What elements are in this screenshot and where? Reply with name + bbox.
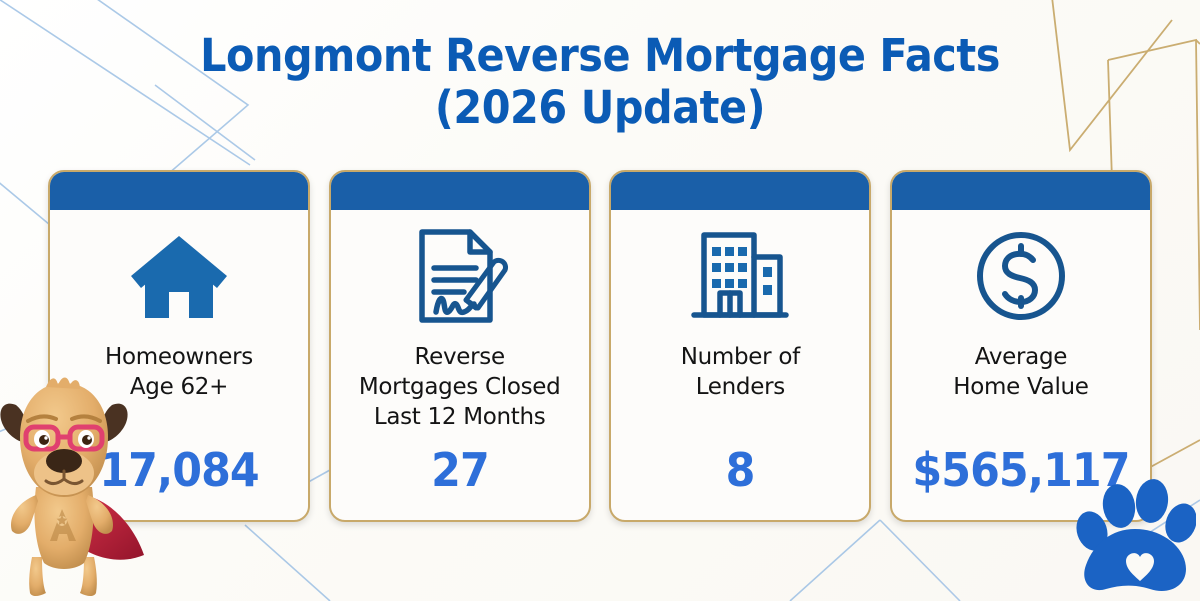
label-line: Last 12 Months bbox=[374, 404, 546, 430]
card-label-lenders: Number of Lenders bbox=[611, 336, 869, 446]
label-line: Number of bbox=[681, 344, 800, 370]
label-line: Mortgages Closed bbox=[359, 374, 561, 400]
paw-print-heart-logo bbox=[1072, 475, 1196, 595]
superhero-dog-mascot bbox=[0, 369, 152, 601]
signed-document-icon bbox=[408, 216, 512, 336]
card-header-bar bbox=[611, 172, 869, 210]
label-line: Home Value bbox=[953, 374, 1088, 400]
office-building-icon bbox=[686, 216, 794, 336]
label-line: Average bbox=[975, 344, 1067, 370]
house-icon bbox=[125, 216, 233, 336]
card-header-bar bbox=[50, 172, 308, 210]
card-label-mortgages-closed: Reverse Mortgages Closed Last 12 Months bbox=[331, 336, 589, 446]
card-value-lenders: 8 bbox=[620, 446, 860, 520]
card-label-home-value: Average Home Value bbox=[892, 336, 1150, 446]
dollar-circle-icon bbox=[971, 216, 1071, 336]
stat-card-lenders[interactable]: Number of Lenders 8 bbox=[609, 170, 871, 522]
stat-card-home-value[interactable]: Average Home Value $565,117 bbox=[890, 170, 1152, 522]
label-line: Lenders bbox=[696, 374, 785, 400]
label-line: Reverse bbox=[414, 344, 504, 370]
paw-toe-2 bbox=[1100, 482, 1138, 530]
card-value-mortgages-closed: 27 bbox=[340, 446, 580, 520]
nose bbox=[46, 449, 82, 473]
stat-card-mortgages-closed[interactable]: Reverse Mortgages Closed Last 12 Months … bbox=[329, 170, 591, 522]
title-line-1: Longmont Reverse Mortgage Facts bbox=[48, 30, 1152, 82]
label-line: Homeowners bbox=[105, 344, 253, 370]
title-line-2: (2026 Update) bbox=[48, 82, 1152, 134]
infographic-canvas: Longmont Reverse Mortgage Facts (2026 Up… bbox=[0, 0, 1200, 601]
paw-toe-3 bbox=[1133, 477, 1170, 525]
card-header-bar bbox=[331, 172, 589, 210]
page-title: Longmont Reverse Mortgage Facts (2026 Up… bbox=[0, 30, 1200, 134]
stat-cards-row: Homeowners Age 62+ 17,084 bbox=[48, 170, 1152, 522]
card-header-bar bbox=[892, 172, 1150, 210]
